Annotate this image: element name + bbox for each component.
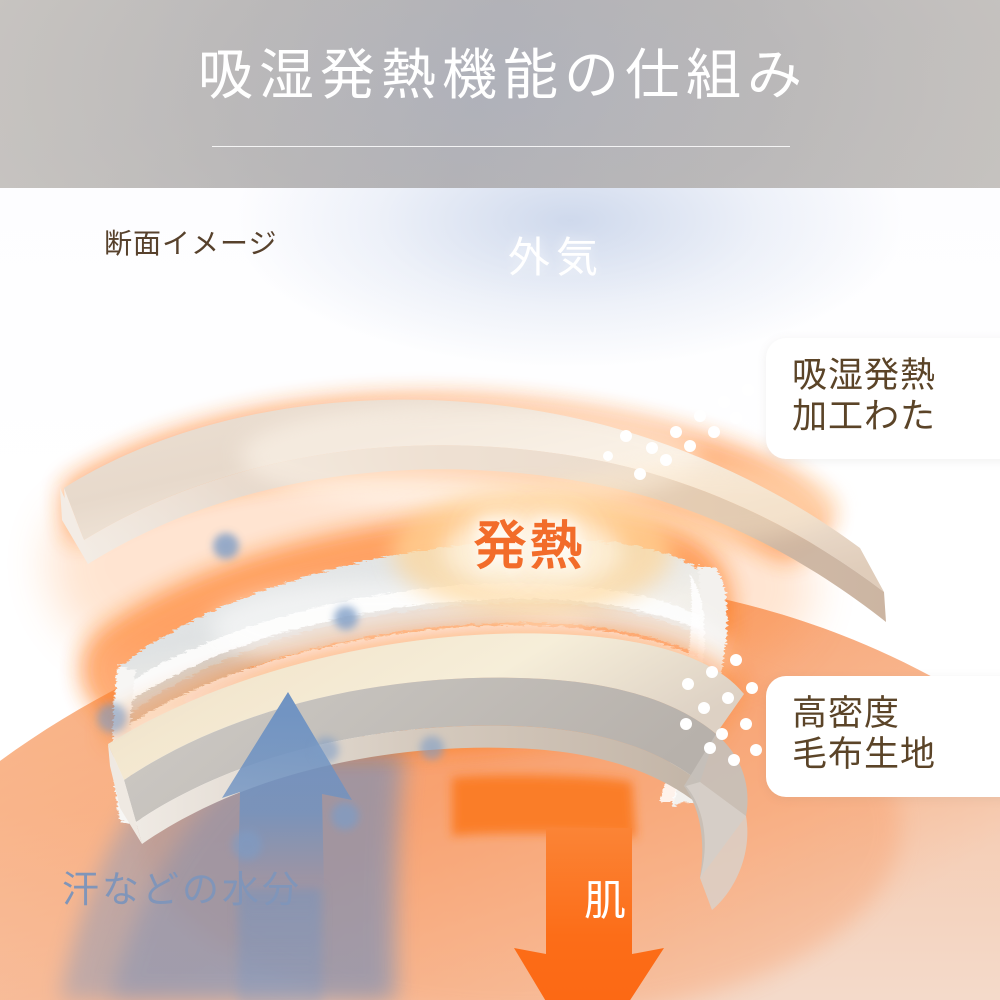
title-underline-divider — [212, 146, 790, 147]
cross-section-label: 断面イメージ — [104, 228, 277, 259]
outside-air-label: 外気 — [508, 234, 604, 281]
infographic-root: 吸湿発熱機能の仕組み — [0, 0, 1000, 1000]
callout-box-moisture-heat-batting: 吸湿発熱 加工わた — [766, 338, 1000, 459]
moisture-label: 汗などの水分 — [62, 869, 302, 910]
page-title: 吸湿発熱機能の仕組み — [0, 48, 1000, 103]
callout-box-high-density-blanket-fabric: 高密度 毛布生地 — [766, 676, 1000, 797]
heat-generation-label: 発熱 — [474, 518, 586, 576]
skin-label: 肌 — [584, 877, 628, 924]
